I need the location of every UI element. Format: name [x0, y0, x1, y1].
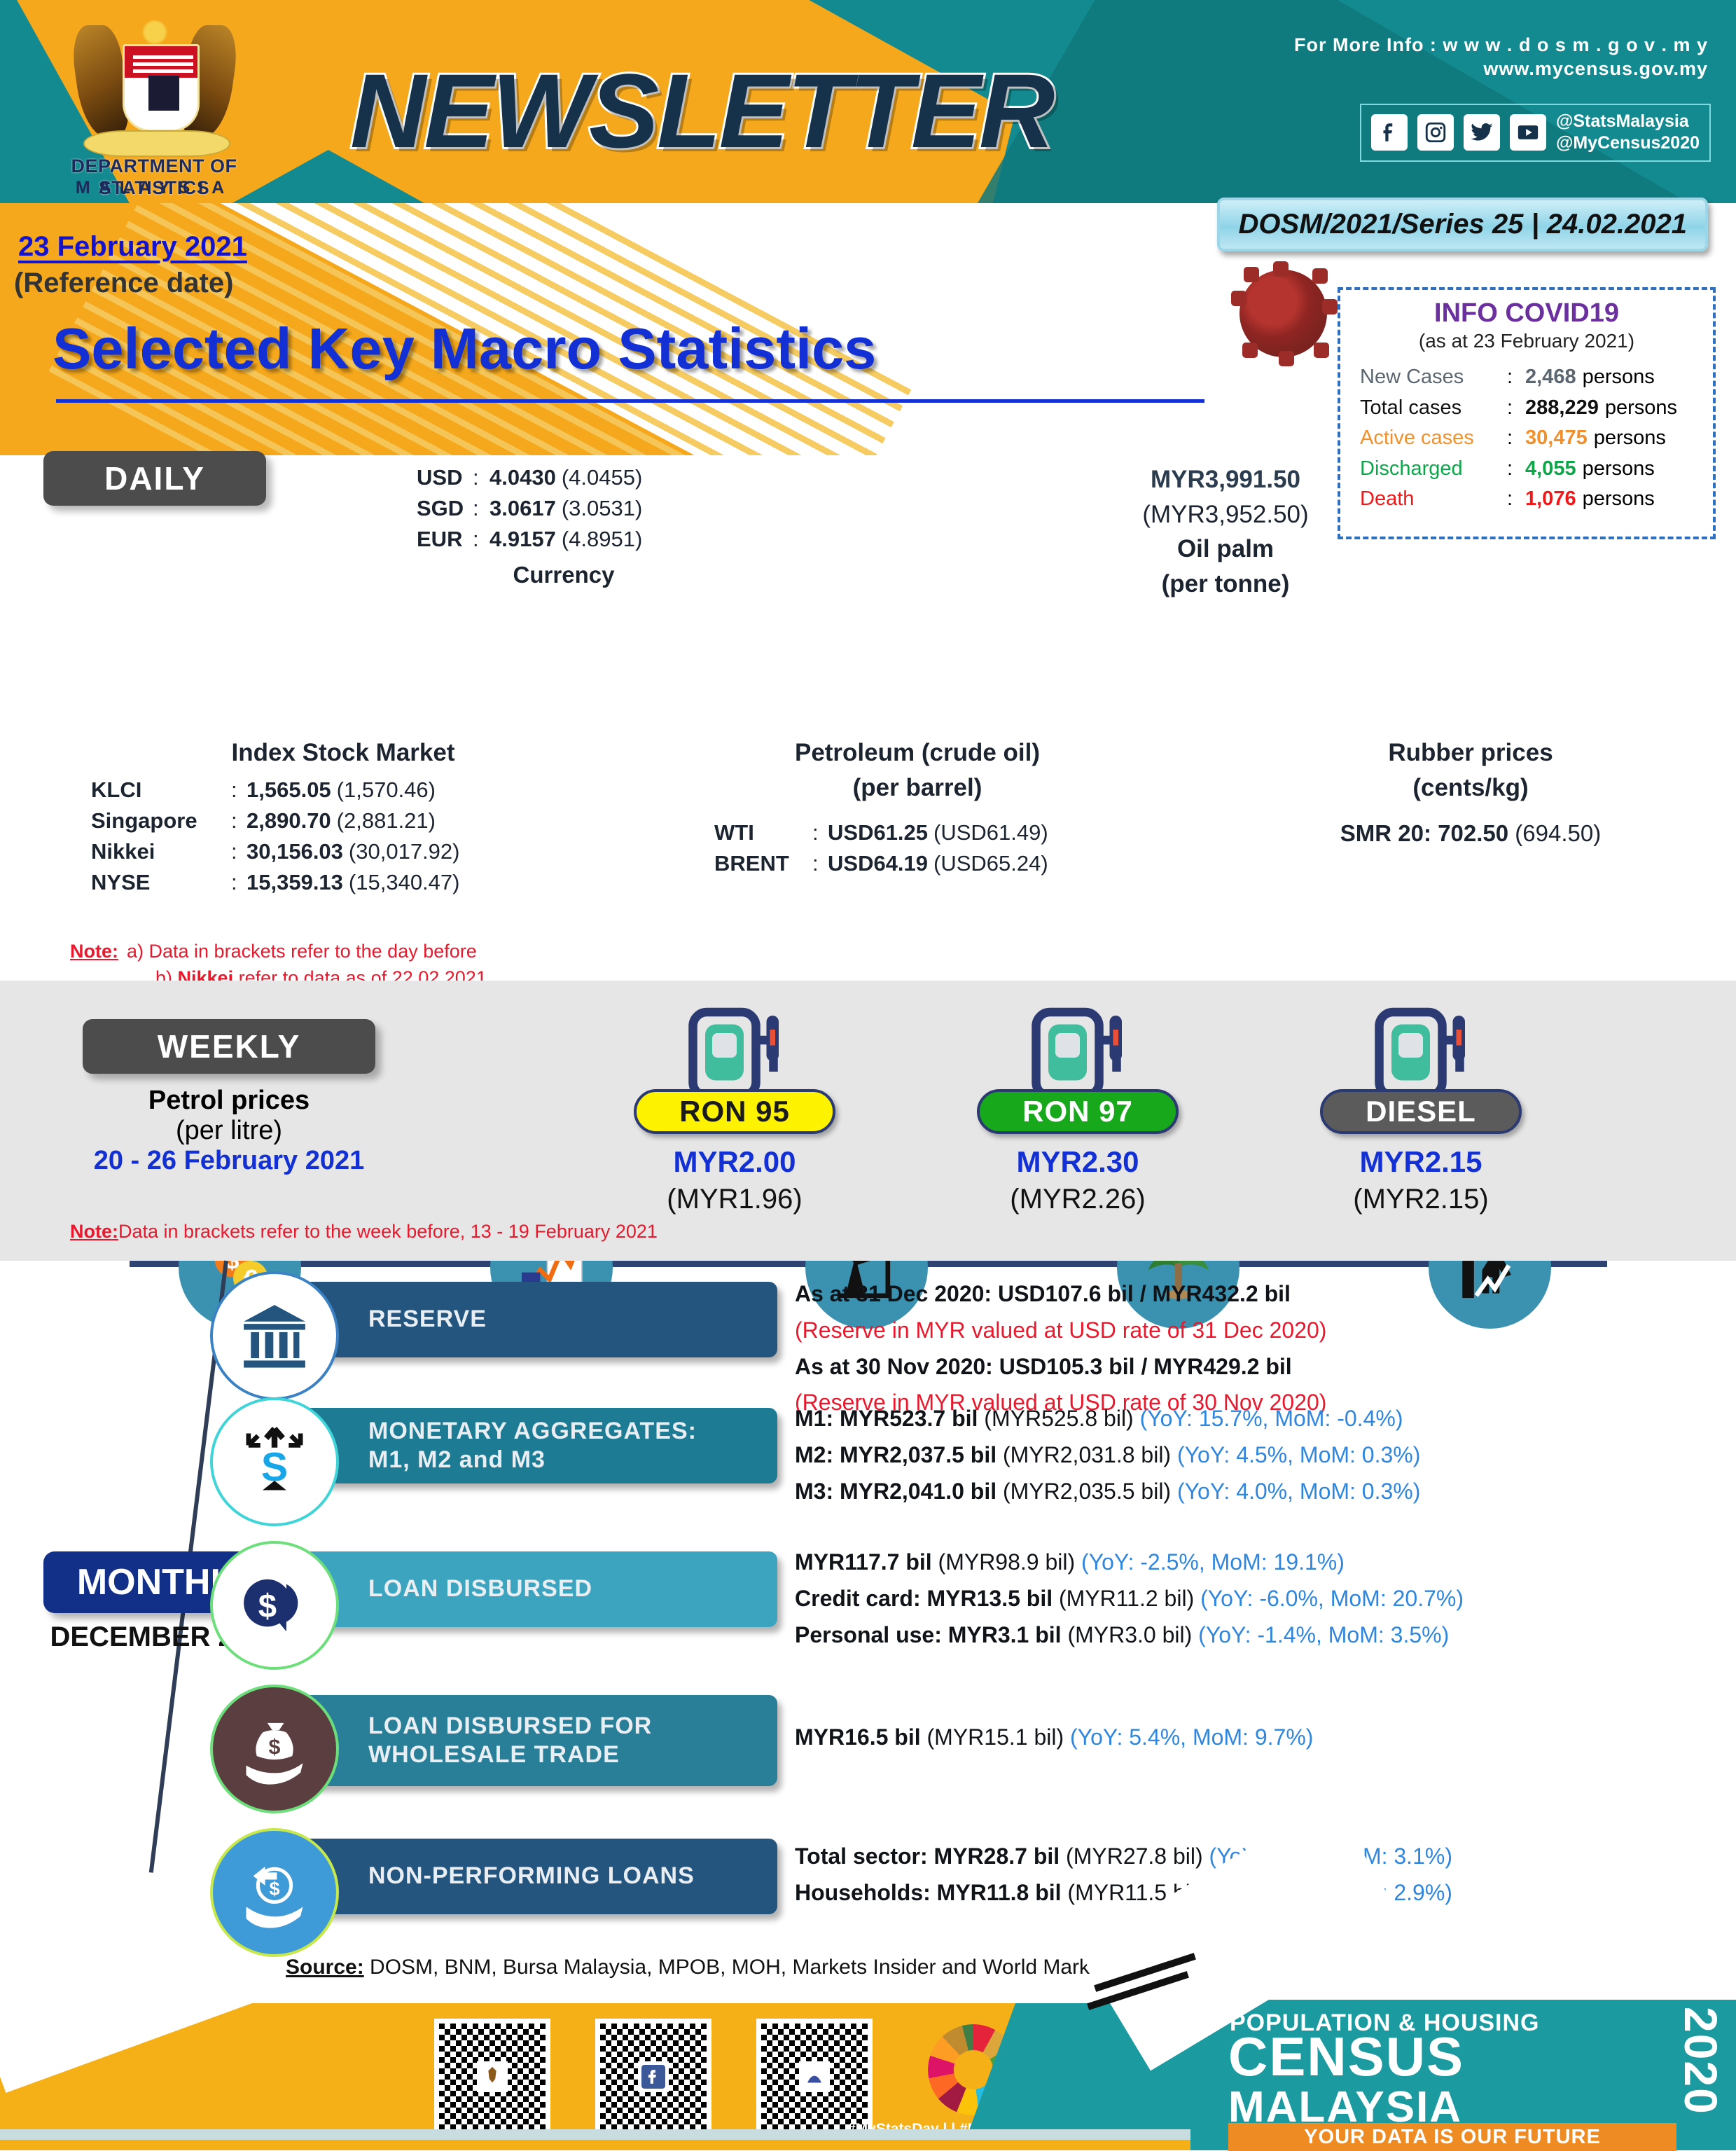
source-label: Source: — [286, 1956, 364, 1979]
stock-prev: (2,881.21) — [337, 805, 436, 836]
currency-value: 4.9157 — [489, 524, 556, 555]
census-banner-dash-lines — [1064, 1959, 1232, 2008]
covid-rows: New Cases:2,468personsTotal cases:288,22… — [1360, 362, 1713, 515]
monthly-text-line: M3: MYR2,041.0 bil (MYR2,035.5 bil) (YoY… — [795, 1474, 1705, 1510]
coronavirus-icon — [1239, 270, 1327, 357]
petroleum-colon: : — [812, 848, 828, 879]
qr-center-census-icon — [799, 2061, 830, 2092]
currency-caption: Currency — [417, 559, 711, 592]
covid-row-label: New Cases — [1360, 362, 1507, 393]
monthly-text-line: MYR117.7 bil (MYR98.9 bil) (YoY: -2.5%, … — [795, 1544, 1705, 1581]
stock-row: Singapore:2,890.70(2,881.21) — [91, 805, 595, 836]
facebook-icon[interactable] — [1371, 114, 1408, 151]
currency-code: SGD — [417, 493, 473, 524]
stock-value: 2,890.70 — [246, 805, 331, 836]
stock-caption: Index Stock Market — [91, 735, 595, 770]
monthly-text-line: Personal use: MYR3.1 bil (MYR3.0 bil) (Y… — [795, 1617, 1705, 1654]
dollar-refresh-icon: $ — [210, 1541, 339, 1670]
instagram-icon[interactable] — [1417, 114, 1454, 151]
currency-prev: (3.0531) — [562, 493, 642, 524]
covid-heading: INFO COVID19 — [1340, 298, 1713, 328]
covid-row-colon: : — [1507, 423, 1525, 454]
qr-code-dosm[interactable] — [434, 2019, 550, 2135]
monthly-text-line: (Reserve in MYR valued at USD rate of 31… — [795, 1313, 1705, 1349]
covid-row-value: 4,055 — [1525, 454, 1576, 485]
qr-center-facebook-icon — [638, 2061, 669, 2092]
qr-code-mycensus[interactable] — [756, 2019, 873, 2135]
covid-info-box: INFO COVID19 (as at 23 February 2021) Ne… — [1338, 287, 1716, 539]
covid-row-value: 288,229 — [1525, 393, 1599, 424]
stock-name: KLCI — [91, 775, 231, 805]
petrol-date-range: 20 - 26 February 2021 — [83, 1146, 375, 1176]
currency-code: EUR — [417, 524, 473, 555]
bank-icon — [210, 1271, 339, 1400]
ribbon-icon — [83, 130, 230, 157]
covid-row-unit: persons — [1594, 423, 1666, 454]
daily-note-label: Note: — [70, 939, 118, 965]
census-year: 2020 — [1674, 2007, 1728, 2115]
monthly-row-text: M1: MYR523.7 bil (MYR525.8 bil) (YoY: 15… — [795, 1401, 1705, 1509]
svg-text:$: $ — [269, 1878, 279, 1899]
petrol-caption-1: Petrol prices — [83, 1086, 375, 1116]
monthly-row-text: As at 31 Dec 2020: USD107.6 bil / MYR432… — [795, 1276, 1705, 1421]
currency-row: USD:4.0430(4.0455) — [417, 462, 711, 493]
monthly-row-text: MYR16.5 bil (MYR15.1 bil) (YoY: 5.4%, Mo… — [795, 1720, 1705, 1756]
currency-prev: (4.0455) — [562, 462, 642, 493]
covid-row-colon: : — [1507, 484, 1525, 515]
monthly-text-line: M1: MYR523.7 bil (MYR525.8 bil) (YoY: 15… — [795, 1401, 1705, 1437]
covid-row: Total cases:288,229persons — [1360, 393, 1713, 424]
stock-name: Singapore — [91, 805, 231, 836]
currency-value: 4.0430 — [489, 462, 556, 493]
more-info-line-1: For More Info : w w w . d o s m . g o v … — [1294, 34, 1708, 57]
currency-value: 3.0617 — [489, 493, 556, 524]
stock-row: NYSE:15,359.13(15,340.47) — [91, 867, 595, 898]
currency-block: USD:4.0430(4.0455)SGD:3.0617(3.0531)EUR:… — [417, 462, 711, 592]
fuel-price-previous: (MYR2.15) — [1320, 1184, 1522, 1215]
fuel-price: MYR2.30 — [977, 1145, 1179, 1179]
stock-block: Index Stock Market KLCI:1,565.05(1,570.4… — [91, 735, 595, 898]
stock-row: Nikkei:30,156.03(30,017.92) — [91, 836, 595, 867]
covid-row-unit: persons — [1583, 362, 1655, 393]
oil-palm-caption-1: Oil palm — [1078, 532, 1373, 567]
monthly-row-label: LOAN DISBURSED FOR WHOLESALE TRADE — [368, 1712, 652, 1770]
monthly-text-line: Credit card: MYR13.5 bil (MYR11.2 bil) (… — [795, 1581, 1705, 1617]
covid-row-colon: : — [1507, 454, 1525, 485]
twitter-icon[interactable] — [1464, 114, 1500, 151]
title-underline — [56, 399, 1204, 403]
rubber-caption-1: Rubber prices — [1254, 735, 1688, 770]
page-header: DEPARTMENT OF STATISTICS MALAYSIA NEWSLE… — [0, 0, 1736, 203]
fuel-type-pill: RON 97 — [977, 1089, 1179, 1134]
stock-value: 1,565.05 — [246, 775, 331, 805]
star-crescent-icon — [139, 17, 170, 48]
petroleum-value: USD64.19 — [828, 848, 928, 879]
social-handles: @StatsMalaysia @MyCensus2020 — [1556, 111, 1700, 155]
rubber-value: SMR 20: 702.50 — [1340, 820, 1508, 846]
currency-colon: : — [473, 524, 489, 555]
currency-row: SGD:3.0617(3.0531) — [417, 493, 711, 524]
money-bag-hand-icon: $ — [210, 1685, 339, 1813]
petroleum-row: WTI:USD61.25(USD61.49) — [714, 817, 1134, 848]
monthly-text-line: As at 30 Nov 2020: USD105.3 bil / MYR429… — [795, 1349, 1705, 1385]
stock-value: 30,156.03 — [246, 836, 343, 867]
source-line: Source: DOSM, BNM, Bursa Malaysia, MPOB,… — [286, 1956, 1165, 1979]
covid-row-label: Total cases — [1360, 393, 1507, 424]
oil-palm-value: MYR3,991.50 — [1078, 462, 1373, 497]
covid-row-value: 2,468 — [1525, 362, 1576, 393]
stock-prev: (30,017.92) — [349, 836, 460, 867]
petroleum-prev: (USD61.49) — [933, 817, 1048, 848]
fuel-price-previous: (MYR1.96) — [634, 1184, 835, 1215]
monthly-text-line: M2: MYR2,037.5 bil (MYR2,031.8 bil) (YoY… — [795, 1437, 1705, 1474]
currency-colon: : — [473, 462, 489, 493]
dosm-crest-logo: DEPARTMENT OF STATISTICS MALAYSIA — [39, 10, 270, 202]
fuel-type-pill: DIESEL — [1320, 1089, 1522, 1134]
stock-colon: : — [231, 867, 246, 898]
covid-row: New Cases:2,468persons — [1360, 362, 1713, 393]
stock-colon: : — [231, 805, 246, 836]
more-info-line-2: www.mycensus.gov.my — [1294, 57, 1708, 81]
newsletter-wordmark: NEWSLETTER — [350, 50, 1053, 172]
header-dark-triangle — [973, 0, 1701, 203]
covid-row-label: Discharged — [1360, 454, 1507, 485]
daily-note-a: a) Data in brackets refer to the day bef… — [127, 939, 477, 965]
footer-white-corner — [0, 2003, 309, 2093]
covid-row-unit: persons — [1583, 484, 1655, 515]
monthly-row-label: MONETARY AGGREGATES: M1, M2 and M3 — [368, 1417, 697, 1475]
oil-palm-prev: (MYR3,952.50) — [1078, 497, 1373, 532]
qr-code-facebook[interactable] — [595, 2019, 711, 2135]
loan-hand-icon: $ — [210, 1828, 339, 1957]
rubber-caption-2: (cents/kg) — [1254, 770, 1688, 805]
covid-row-unit: persons — [1583, 454, 1655, 485]
monthly-text-line: MYR16.5 bil (MYR15.1 bil) (YoY: 5.4%, Mo… — [795, 1720, 1705, 1756]
handle-line-2: @MyCensus2020 — [1556, 132, 1700, 154]
currency-row: EUR:4.9157(4.8951) — [417, 524, 711, 555]
petroleum-prev: (USD65.24) — [933, 848, 1048, 879]
covid-row: Death:1,076persons — [1360, 484, 1713, 515]
daily-icon-row: $ € $ — [0, 602, 1736, 725]
petroleum-caption-2: (per barrel) — [700, 770, 1134, 805]
monthly-row-text: MYR117.7 bil (MYR98.9 bil) (YoY: -2.5%, … — [795, 1544, 1705, 1653]
header-contact-info: For More Info : w w w . d o s m . g o v … — [1294, 34, 1708, 81]
census-line-2: CENSUS — [1228, 2031, 1464, 2082]
dollar-arrows-icon: S — [210, 1397, 339, 1526]
monthly-row-label: LOAN DISBURSED — [368, 1575, 592, 1603]
stock-colon: : — [231, 775, 246, 805]
covid-as-at: (as at 23 February 2021) — [1340, 330, 1713, 352]
covid-row: Discharged:4,055persons — [1360, 454, 1713, 485]
youtube-icon[interactable] — [1510, 114, 1546, 151]
fuel-price-previous: (MYR2.26) — [977, 1184, 1179, 1215]
svg-text:$: $ — [258, 1588, 277, 1625]
source-text: DOSM, BNM, Bursa Malaysia, MPOB, MOH, Ma… — [364, 1956, 1165, 1979]
weekly-note: Note: Data in brackets refer to the week… — [70, 1219, 658, 1245]
page-title: Selected Key Macro Statistics — [53, 315, 876, 382]
census-2020-banner: POPULATION & HOUSING CENSUS MALAYSIA 202… — [1190, 2000, 1736, 2150]
oil-palm-caption-2: (per tonne) — [1078, 567, 1373, 602]
covid-row-label: Active cases — [1360, 423, 1507, 454]
malaysia-coat-of-arms-icon — [67, 13, 242, 153]
petrol-caption-block: Petrol prices (per litre) 20 - 26 Februa… — [83, 1086, 375, 1176]
petroleum-name: BRENT — [714, 848, 812, 879]
stock-name: Nikkei — [91, 836, 231, 867]
covid-row-value: 30,475 — [1525, 423, 1588, 454]
petroleum-name: WTI — [714, 817, 812, 848]
petroleum-value: USD61.25 — [828, 817, 928, 848]
stock-colon: : — [231, 836, 246, 867]
reference-date-caption: (Reference date) — [14, 268, 233, 299]
monthly-text-line: As at 31 Dec 2020: USD107.6 bil / MYR432… — [795, 1276, 1705, 1313]
weekly-note-text: Data in brackets refer to the week befor… — [118, 1219, 658, 1245]
fuel-type-pill: RON 95 — [634, 1089, 835, 1134]
monthly-row-label: NON-PERFORMING LOANS — [368, 1862, 695, 1890]
census-tagline: YOUR DATA IS OUR FUTURE — [1228, 2123, 1676, 2151]
currency-prev: (4.8951) — [562, 524, 642, 555]
covid-row-label: Death — [1360, 484, 1507, 515]
petroleum-block: Petroleum (crude oil) (per barrel) WTI:U… — [700, 735, 1134, 879]
stock-prev: (1,570.46) — [337, 775, 436, 805]
petroleum-colon: : — [812, 817, 828, 848]
org-name-line2: MALAYSIA — [39, 178, 270, 198]
rubber-block: Rubber prices (cents/kg) SMR 20: 702.50 … — [1254, 735, 1688, 850]
covid-row-colon: : — [1507, 362, 1525, 393]
rubber-prev: (694.50) — [1515, 820, 1601, 846]
social-links[interactable]: @StatsMalaysia @MyCensus2020 — [1360, 104, 1711, 162]
weekly-note-label: Note: — [70, 1219, 118, 1245]
shield-icon — [123, 44, 200, 132]
stock-prev: (15,340.47) — [349, 867, 460, 898]
petrol-caption-2: (per litre) — [83, 1116, 375, 1146]
oil-palm-block: MYR3,991.50 (MYR3,952.50) Oil palm (per … — [1078, 462, 1373, 602]
fuel-price: MYR2.00 — [634, 1145, 835, 1179]
currency-code: USD — [417, 462, 473, 493]
covid-row-colon: : — [1507, 393, 1525, 424]
handle-line-1: @StatsMalaysia — [1556, 111, 1700, 132]
series-badge: DOSM/2021/Series 25 | 24.02.2021 — [1217, 198, 1708, 251]
covid-row-unit: persons — [1605, 393, 1677, 424]
covid-row-value: 1,076 — [1525, 484, 1576, 515]
monthly-row-label: RESERVE — [368, 1305, 487, 1334]
svg-text:$: $ — [269, 1736, 281, 1759]
daily-badge: DAILY — [43, 451, 266, 506]
weekly-badge: WEEKLY — [83, 1019, 375, 1074]
stock-value: 15,359.13 — [246, 867, 343, 898]
stock-row: KLCI:1,565.05(1,570.46) — [91, 775, 595, 805]
currency-colon: : — [473, 493, 489, 524]
covid-row: Active cases:30,475persons — [1360, 423, 1713, 454]
fuel-price: MYR2.15 — [1320, 1145, 1522, 1179]
stock-name: NYSE — [91, 867, 231, 898]
petroleum-row: BRENT:USD64.19(USD65.24) — [714, 848, 1134, 879]
petroleum-caption-1: Petroleum (crude oil) — [700, 735, 1134, 770]
reference-date: 23 February 2021 — [18, 231, 247, 263]
qr-center-crest-icon — [477, 2061, 508, 2092]
